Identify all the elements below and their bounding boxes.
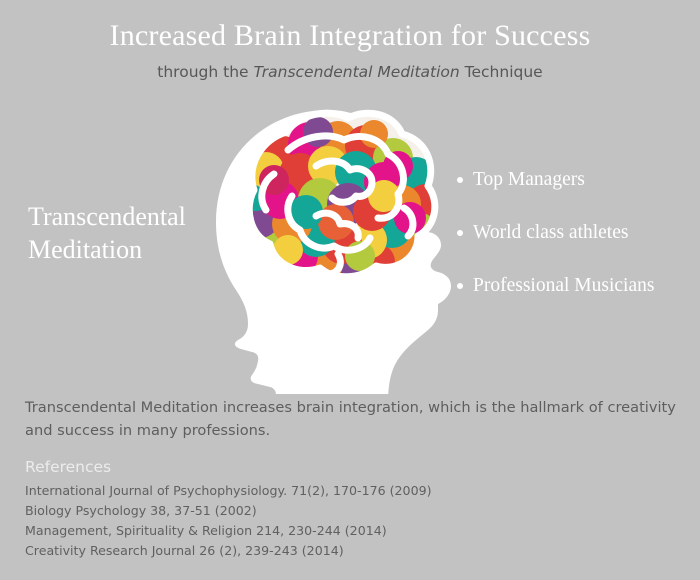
reference-entry: International Journal of Psychophysiolog… — [25, 481, 625, 501]
list-item-label: Top Managers — [473, 169, 585, 190]
reference-entry: Creativity Research Journal 26 (2), 239-… — [25, 541, 625, 561]
reference-entry: Management, Spirituality & Religion 214,… — [25, 521, 625, 541]
page-title: Increased Brain Integration for Success — [0, 18, 700, 54]
bullet-dot-icon — [457, 230, 463, 236]
reference-entry: Biology Psychology 38, 37-51 (2002) — [25, 501, 625, 521]
list-item: Professional Musicians — [455, 274, 700, 298]
bullet-dot-icon — [457, 177, 463, 183]
list-item-label: World class athletes — [473, 222, 628, 243]
references-list: International Journal of Psychophysiolog… — [25, 481, 625, 561]
brain-head-illustration — [188, 104, 478, 394]
list-item: World class athletes — [455, 221, 700, 245]
subtitle-suffix: Technique — [460, 63, 543, 81]
summary-paragraph: Transcendental Meditation increases brai… — [25, 396, 680, 442]
poster-canvas: Increased Brain Integration for Success … — [0, 0, 700, 580]
references-section: References International Journal of Psyc… — [25, 457, 625, 561]
page-subtitle: through the Transcendental Meditation Te… — [0, 62, 700, 82]
professions-list: Top Managers World class athletes Profes… — [455, 168, 700, 327]
head-profile-icon — [188, 104, 478, 394]
references-heading: References — [25, 457, 625, 478]
subtitle-emphasis: Transcendental Meditation — [253, 63, 459, 81]
list-item-label: Professional Musicians — [473, 275, 654, 296]
bullet-dot-icon — [457, 283, 463, 289]
subtitle-prefix: through the — [157, 63, 253, 81]
list-item: Top Managers — [455, 168, 700, 192]
